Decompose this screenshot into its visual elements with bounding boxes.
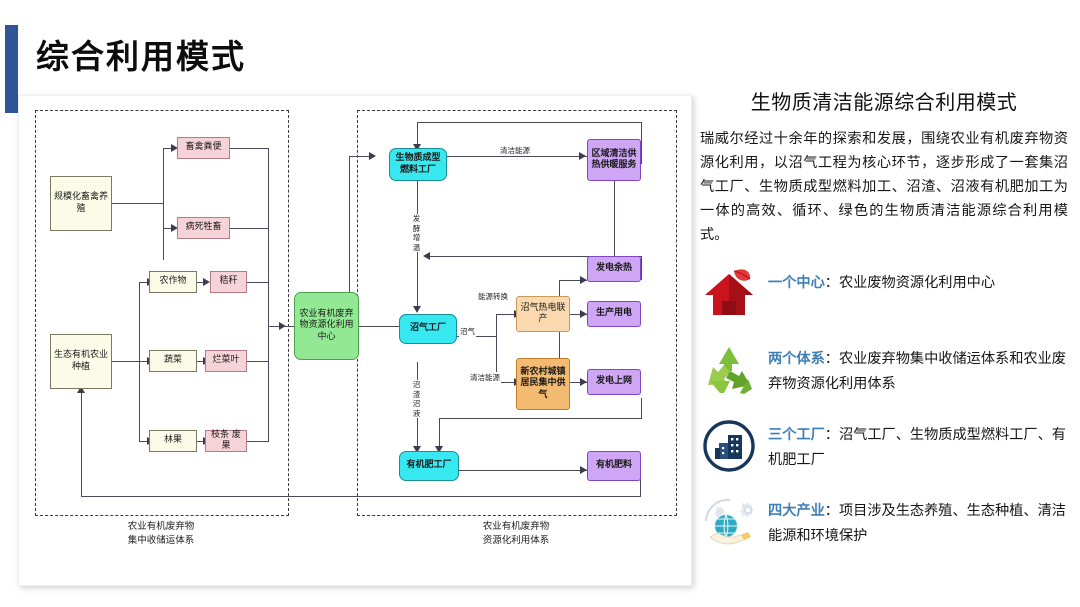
connector [247, 361, 269, 362]
node-dead-livestock[interactable]: 病死牲畜 [177, 217, 230, 239]
feature-sep: ： [825, 503, 839, 519]
edge-label-biogas: 沼气 [459, 326, 476, 337]
feature-row-three-plants: 三个工厂：沼气工厂、生物质成型燃料工厂、有机肥工厂 [700, 417, 1068, 475]
node-grid-power[interactable]: 发电上网 [587, 369, 641, 395]
feature-row-two-systems: 两个体系：农业废弃物集中收储运体系和农业废弃物资源化利用体系 [700, 341, 1068, 399]
node-manure[interactable]: 畜禽粪便 [177, 137, 230, 159]
house-leaf-icon [700, 265, 758, 323]
node-resource-utilization-center[interactable]: 农业有机废弃物资源化利用中心 [294, 292, 359, 360]
feature-body: 农业废物资源化利用中心 [839, 275, 995, 291]
feature-row-one-center: 一个中心：农业废物资源化利用中心 [700, 265, 1068, 323]
node-rotten-leaves[interactable]: 烂菜叶 [205, 350, 247, 372]
arrow [580, 378, 587, 386]
node-village-gas[interactable]: 新农村城镇居民集中供气 [516, 358, 570, 410]
node-forest-fruit[interactable]: 林果 [149, 430, 197, 452]
edge-label-fermentation-heating: 发酵增温 [412, 214, 421, 252]
connector [230, 228, 269, 229]
factory-circle-icon [700, 417, 758, 475]
connector [247, 441, 269, 442]
node-biogas-plant[interactable]: 沼气工厂 [399, 314, 457, 344]
connector [496, 314, 516, 315]
node-eco-planting[interactable]: 生态有机农业种植 [50, 334, 112, 389]
page-title: 综合利用模式 [36, 30, 246, 78]
edge-label-clean-energy-top: 清洁能源 [499, 145, 531, 156]
node-waste-heat[interactable]: 发电余热 [587, 256, 641, 282]
connector [163, 148, 164, 260]
info-panel: 生物质清洁能源综合利用模式 瑞威尔经过十余年的探索和发展，围绕农业有机废弃物资源… [700, 86, 1068, 551]
connector [268, 282, 269, 442]
node-organic-fertilizer[interactable]: 有机肥料 [587, 451, 641, 481]
connector [349, 156, 371, 157]
connector [282, 326, 294, 327]
connector [230, 148, 269, 149]
feature-sep: ： [825, 427, 839, 443]
globe-hand-gear-icon [700, 493, 758, 551]
group-caption-left: 农业有机废弃物 集中收储运体系 [35, 520, 287, 548]
node-biomass-fuel-plant[interactable]: 生物质成型燃料工厂 [389, 148, 447, 181]
group-caption-right: 农业有机废弃物 资源化利用体系 [357, 520, 675, 548]
node-biogas-chp[interactable]: 沼气热电联产 [516, 296, 570, 332]
feature-text-two-systems: 两个体系：农业废弃物集中收储运体系和农业废弃物资源化利用体系 [768, 341, 1068, 397]
diagram-card: 农业有机废弃物 集中收储运体系 农业有机废弃物 资源化利用体系 [18, 95, 692, 586]
node-straw[interactable]: 秸秆 [210, 271, 247, 293]
panel-title: 生物质清洁能源综合利用模式 [700, 86, 1068, 115]
feature-key: 四大产业 [768, 503, 825, 519]
arrow [423, 252, 430, 260]
arrow [580, 310, 587, 318]
arrow [579, 152, 586, 160]
node-branches-fruit[interactable]: 枝条 废果 [205, 430, 247, 452]
feature-row-four-industries: 四大产业：项目涉及生态养殖、生态种植、清洁能源和环境保护 [700, 493, 1068, 551]
node-production-power[interactable]: 生产用电 [587, 301, 641, 327]
edge-label-clean-energy-mid: 清洁能源 [469, 372, 501, 383]
feature-sep: ： [825, 351, 839, 367]
connector [439, 418, 641, 419]
connector [447, 156, 587, 157]
connector [81, 393, 82, 497]
arrow [369, 152, 376, 160]
feature-key: 一个中心 [768, 275, 825, 291]
feature-key: 两个体系 [768, 351, 825, 367]
node-organic-fertilizer-plant[interactable]: 有机肥工厂 [399, 451, 459, 481]
connector [247, 282, 269, 283]
connector [112, 203, 164, 204]
edge-label-energy-conversion: 能源转换 [477, 291, 509, 302]
connector [81, 496, 641, 497]
arrow [580, 276, 587, 284]
connector [459, 470, 587, 471]
connector [359, 326, 401, 327]
feature-text-three-plants: 三个工厂：沼气工厂、生物质成型燃料工厂、有机肥工厂 [768, 417, 1068, 473]
node-vegetables[interactable]: 蔬菜 [149, 350, 197, 372]
feature-sep: ： [825, 275, 839, 291]
arrow [580, 466, 587, 474]
edge-label-residue-slurry: 沼渣沼液 [412, 380, 421, 418]
group-box-collection-system [35, 110, 289, 516]
recycle-icon [700, 341, 758, 399]
connector [641, 256, 642, 280]
arrow [413, 306, 421, 313]
node-district-heating[interactable]: 区域清洁供热供暖服务 [587, 139, 641, 181]
connector [641, 122, 642, 164]
feature-text-four-industries: 四大产业：项目涉及生态养殖、生态种植、清洁能源和环境保护 [768, 493, 1068, 549]
feature-text-one-center: 一个中心：农业废物资源化利用中心 [768, 265, 995, 296]
connector [641, 398, 642, 419]
title-accent-bar [5, 25, 18, 113]
feature-key: 三个工厂 [768, 427, 825, 443]
arrow [203, 278, 210, 286]
connector [112, 361, 140, 362]
node-livestock[interactable]: 规模化畜禽养殖 [50, 176, 112, 231]
connector [417, 122, 642, 123]
node-crops[interactable]: 农作物 [149, 271, 197, 293]
panel-paragraph: 瑞威尔经过十余年的探索和发展，围绕农业有机废弃物资源化利用，以沼气工程为核心环节… [700, 127, 1068, 247]
